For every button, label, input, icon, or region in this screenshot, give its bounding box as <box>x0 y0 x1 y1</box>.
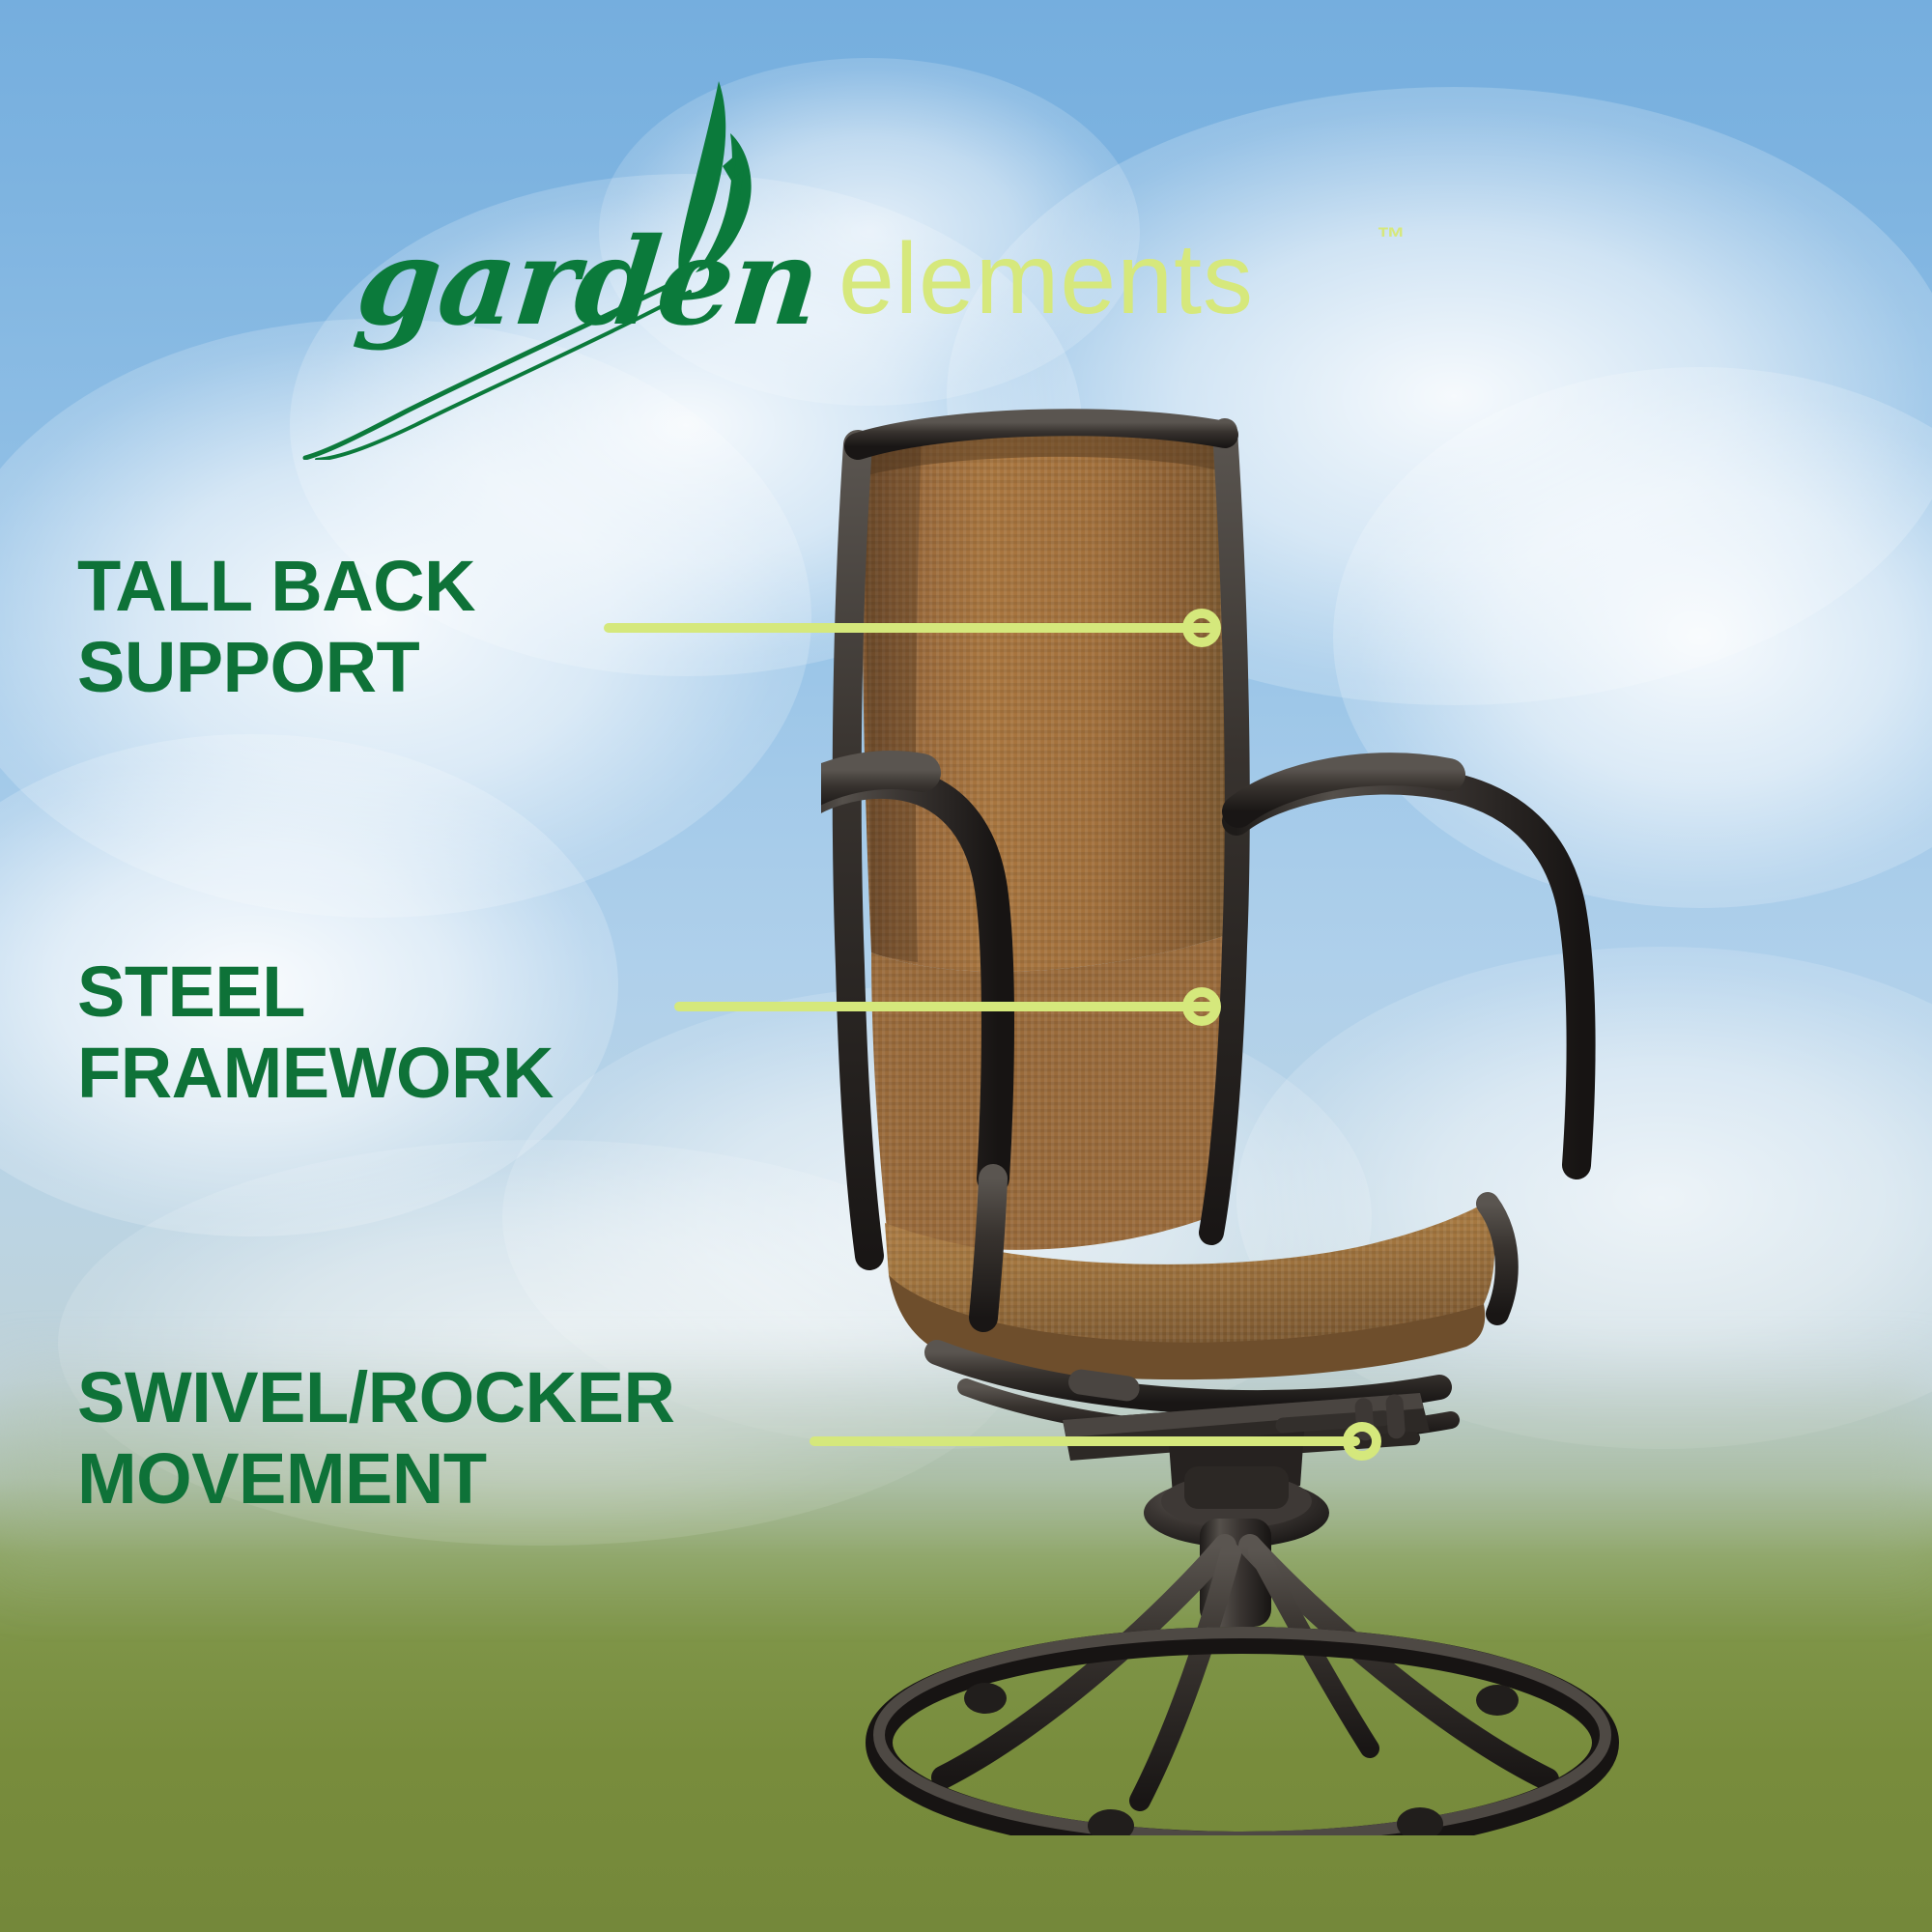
product-image-swivel-chair <box>821 406 1903 1835</box>
leader-line-swivel-rocker <box>810 1436 1360 1446</box>
callout-label-swivel-rocker: SWIVEL/ROCKER MOVEMENT <box>77 1357 674 1520</box>
logo-script-text: garden <box>350 213 824 353</box>
chair-armrest-right <box>1236 769 1581 1165</box>
trademark-symbol: ™ <box>1377 222 1406 255</box>
chair-backrest-sling <box>862 418 1228 1249</box>
callout-marker-swivel-rocker <box>1343 1422 1381 1461</box>
callout-marker-tall-back-support <box>1182 609 1221 647</box>
callout-label-tall-back-support: TALL BACK SUPPORT <box>77 546 475 708</box>
callout-marker-steel-framework <box>1182 987 1221 1026</box>
callout-label-steel-framework: STEEL FRAMEWORK <box>77 952 554 1114</box>
chair-base-swivel-ring <box>879 1519 1605 1835</box>
leader-line-tall-back-support <box>604 623 1217 633</box>
leader-line-steel-framework <box>674 1002 1217 1011</box>
logo-sans-text: elements <box>838 222 1254 337</box>
product-feature-image: garden elements ™ <box>0 0 1932 1932</box>
brand-logo: garden elements ™ <box>357 77 1265 367</box>
